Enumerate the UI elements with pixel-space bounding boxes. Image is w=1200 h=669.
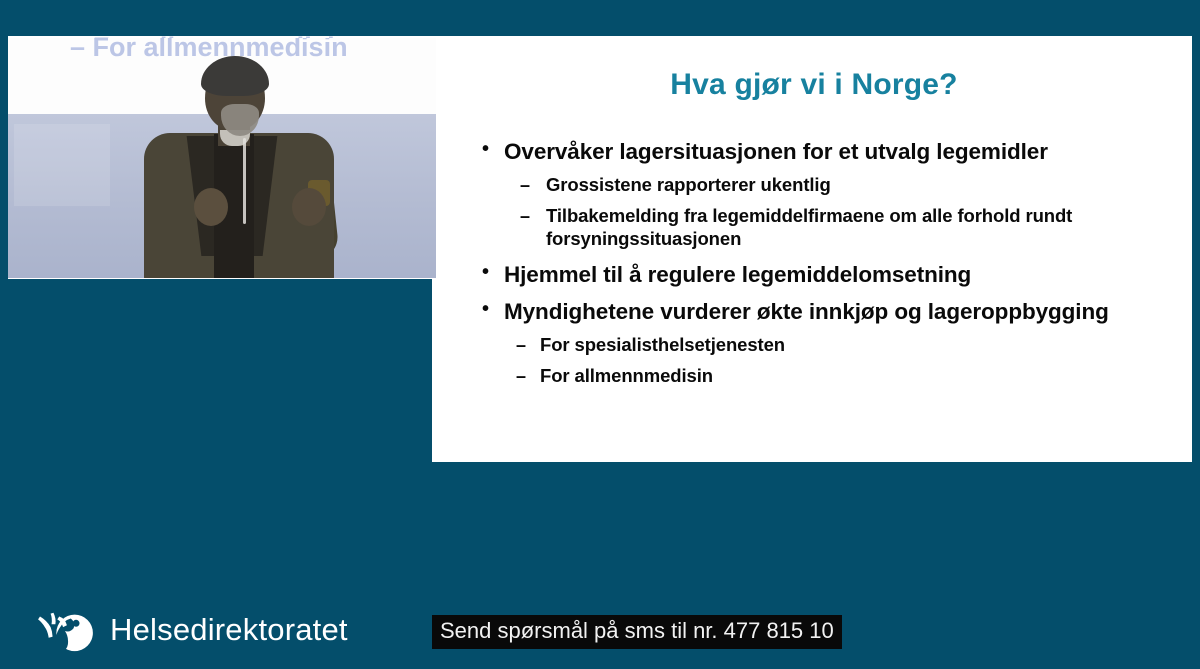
helsedirektoratet-logo-icon <box>36 605 94 655</box>
bullet-text: Tilbakemelding fra legemiddelfirmaene om… <box>546 205 1072 249</box>
bullet-text: Grossistene rapporterer ukentlig <box>546 174 831 195</box>
bullet-text: Overvåker lagersituasjonen for et utvalg… <box>504 139 1048 164</box>
video-wall-panel <box>14 124 110 206</box>
spacer <box>478 358 1178 365</box>
bullet-text: Hjemmel til å regulere legemiddelomsetni… <box>504 262 971 287</box>
bullet-text: For spesialisthelsetjenesten <box>540 334 785 355</box>
bullet-marker-dash: – <box>516 365 526 387</box>
bullet-level2: – Tilbakemelding fra legemiddelfirmaene … <box>478 205 1178 251</box>
slide-title: Hva gjør vi i Norge? <box>444 68 1184 102</box>
bullet-level2: – For spesialisthelsetjenesten <box>478 334 1178 357</box>
bullet-level2: – Grossistene rapporterer ukentlig <box>478 174 1178 197</box>
microphone-cable-icon <box>243 138 246 224</box>
broadcast-stage: – For allmennmedisin Hva gjør vi i Norge… <box>0 0 1200 669</box>
spacer <box>478 327 1178 334</box>
slide-bullet-list: • Overvåker lagersituasjonen for et utva… <box>478 138 1178 389</box>
spacer <box>478 167 1178 174</box>
bullet-marker-dash: – <box>516 334 526 356</box>
video-slide-ghost-text: – For allmennmedisin <box>70 38 348 63</box>
bullet-marker-dot: • <box>482 297 489 321</box>
bullet-text: For allmennmedisin <box>540 365 713 386</box>
sms-caption-bar: Send spørsmål på sms til nr. 477 815 10 <box>432 615 842 649</box>
bullet-level1: • Myndighetene vurderer økte innkjøp og … <box>478 298 1178 325</box>
footer-branding: Helsedirektoratet <box>36 605 348 655</box>
spacer <box>478 198 1178 205</box>
speaker-left-hand <box>194 188 228 226</box>
speaker-video-inset[interactable]: – For allmennmedisin <box>8 38 436 278</box>
spacer <box>478 291 1178 298</box>
bullet-marker-dash: – <box>520 205 530 227</box>
bullet-level2: – For allmennmedisin <box>478 365 1178 388</box>
spacer <box>478 252 1178 261</box>
bullet-level1: • Overvåker lagersituasjonen for et utva… <box>478 138 1178 165</box>
bullet-level1: • Hjemmel til å regulere legemiddelomset… <box>478 261 1178 288</box>
bullet-marker-dash: – <box>520 174 530 196</box>
organization-name: Helsedirektoratet <box>110 612 348 648</box>
bullet-marker-dot: • <box>482 137 489 161</box>
bullet-marker-dot: • <box>482 260 489 284</box>
bullet-text: Myndighetene vurderer økte innkjøp og la… <box>504 299 1109 324</box>
speaker-right-hand <box>292 188 326 226</box>
slide-lower-left-mask <box>8 279 432 462</box>
